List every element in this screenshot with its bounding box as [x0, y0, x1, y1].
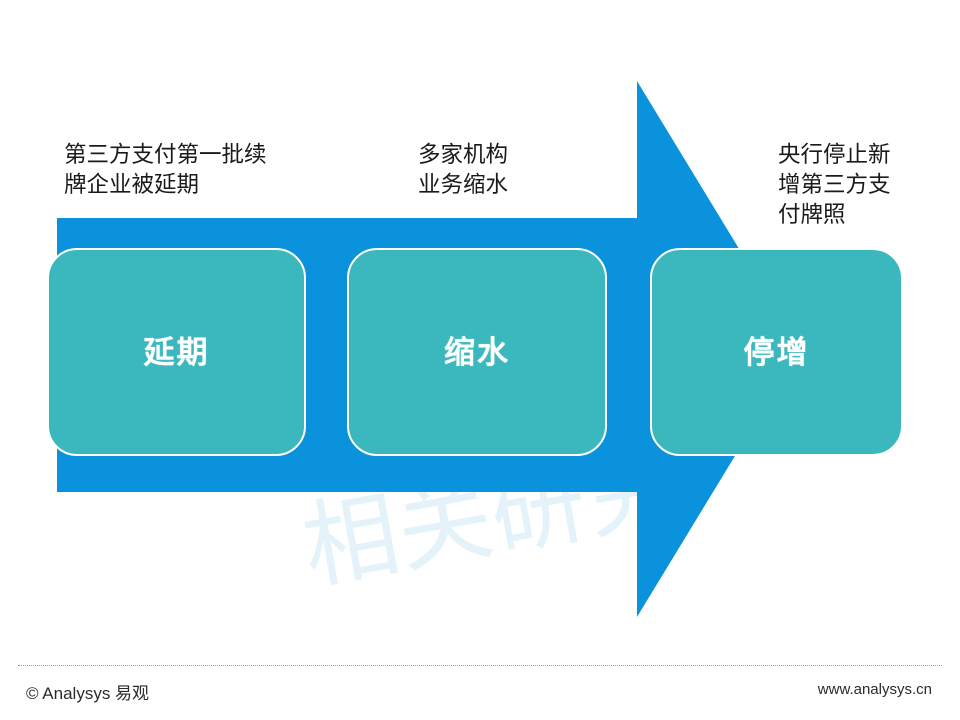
- stage-box-label-0: 延期: [144, 337, 210, 368]
- stage-box-label-2: 停增: [744, 337, 810, 368]
- stage-box-label-1: 缩水: [444, 337, 510, 368]
- stage-box-2[interactable]: 停增: [650, 248, 903, 456]
- slide-canvas: alysys 易观 相关研究 延期 缩水 停增 第三方支付第一批续 牌企业被延期…: [0, 0, 960, 720]
- footer-divider: [18, 665, 942, 666]
- stage-caption-2: 央行停止新 增第三方支 付牌照: [778, 140, 958, 230]
- stage-box-1[interactable]: 缩水: [347, 248, 607, 456]
- stage-caption-1: 多家机构 业务缩水: [418, 140, 648, 200]
- footer-website[interactable]: www.analysys.cn: [818, 681, 932, 698]
- footer-copyright: © Analysys 易观: [26, 679, 149, 704]
- stage-caption-0: 第三方支付第一批续 牌企业被延期: [64, 140, 334, 200]
- stage-box-0[interactable]: 延期: [47, 248, 306, 456]
